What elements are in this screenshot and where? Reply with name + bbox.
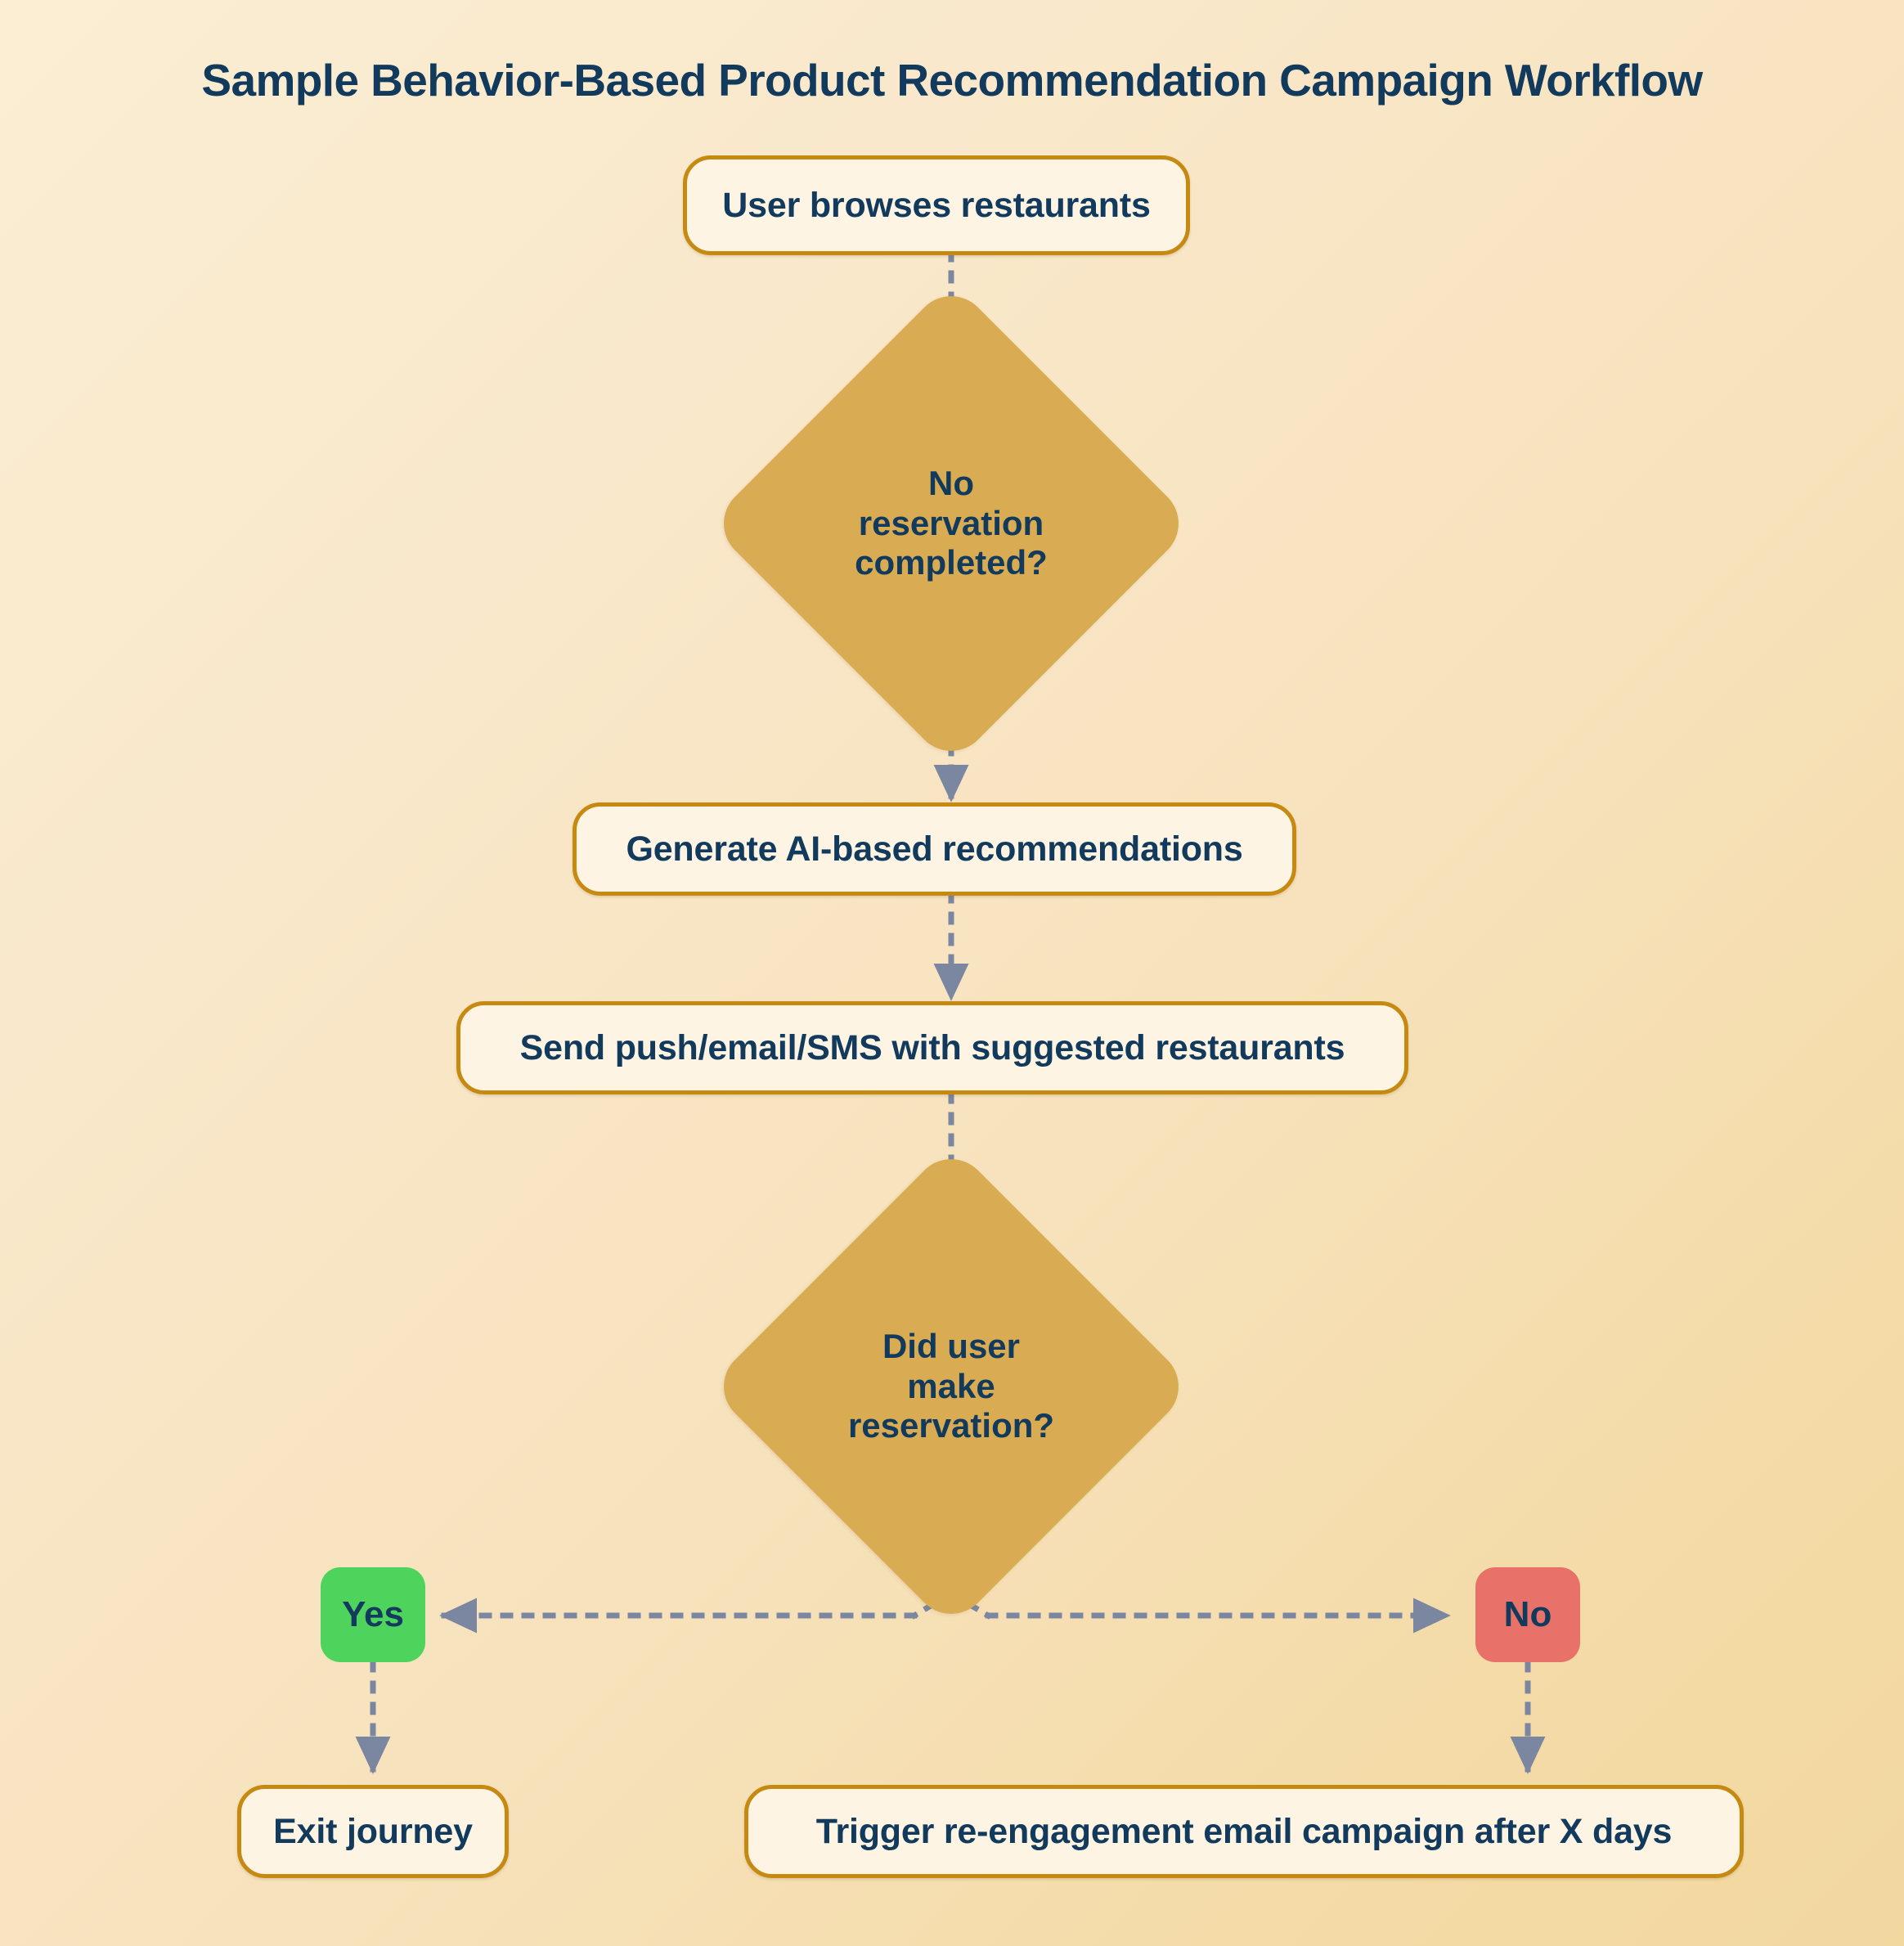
node-label: Send push/email/SMS with suggested resta…	[520, 1028, 1345, 1068]
node-label: Did user make reservation?	[779, 1215, 1123, 1558]
node-label: User browses restaurants	[722, 186, 1150, 226]
badge-label: No	[1504, 1594, 1552, 1635]
node-user-browses-restaurants[interactable]: User browses restaurants	[683, 155, 1190, 255]
node-trigger-re-engagement-campaign[interactable]: Trigger re-engagement email campaign aft…	[744, 1785, 1744, 1878]
node-label: Exit journey	[273, 1812, 473, 1852]
decision-did-user-make-reservation[interactable]: Did user make reservation?	[779, 1215, 1123, 1558]
flowchart-canvas: Sample Behavior-Based Product Recommenda…	[0, 0, 1904, 1946]
node-generate-ai-recommendations[interactable]: Generate AI-based recommendations	[573, 802, 1296, 896]
node-label: Generate AI-based recommendations	[626, 829, 1242, 870]
node-send-push-email-sms[interactable]: Send push/email/SMS with suggested resta…	[456, 1001, 1408, 1094]
badge-label: Yes	[342, 1594, 404, 1635]
decision-no-reservation-completed[interactable]: No reservation completed?	[779, 352, 1123, 695]
page-title: Sample Behavior-Based Product Recommenda…	[0, 54, 1904, 106]
node-label: Trigger re-engagement email campaign aft…	[816, 1812, 1672, 1852]
node-exit-journey[interactable]: Exit journey	[237, 1785, 509, 1878]
connector-layer	[0, 0, 1904, 1946]
node-label: No reservation completed?	[779, 352, 1123, 695]
badge-no[interactable]: No	[1475, 1567, 1580, 1662]
badge-yes[interactable]: Yes	[321, 1567, 425, 1662]
